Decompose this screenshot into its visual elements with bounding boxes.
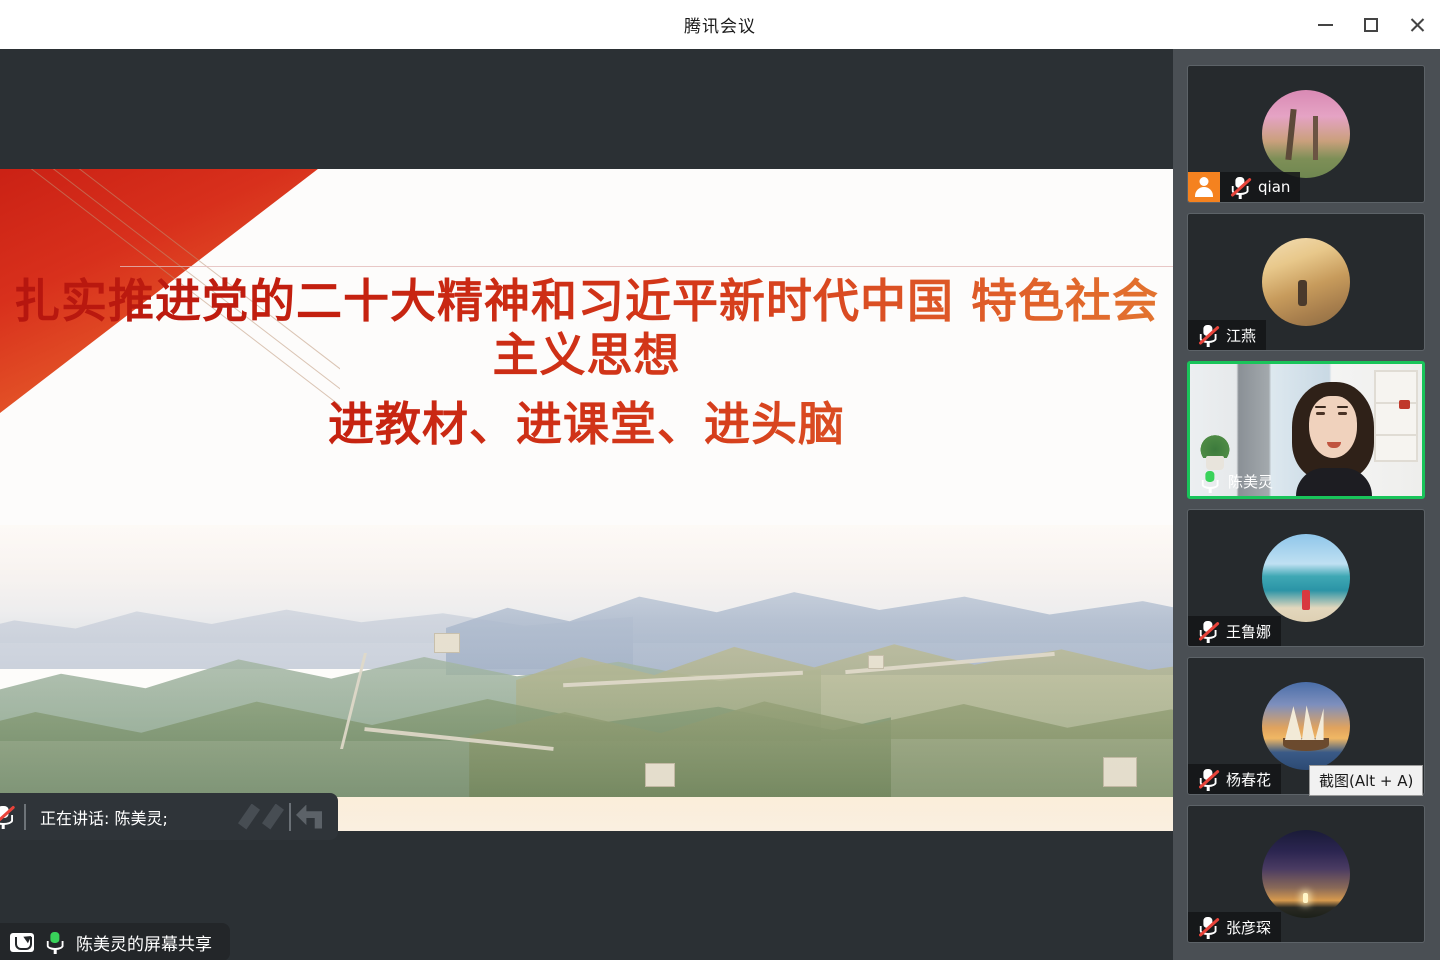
maximize-icon	[1364, 18, 1378, 32]
title-bar: 腾讯会议	[0, 0, 1440, 49]
galaxy-night-avatar	[1262, 830, 1350, 918]
participant-name: 杨春花	[1226, 769, 1271, 790]
divider	[24, 804, 26, 830]
screen-share-icon	[10, 933, 34, 952]
plant	[1198, 430, 1232, 458]
participant-tile-wangluna[interactable]: 王鲁娜	[1187, 509, 1425, 647]
decorative-divider	[120, 266, 1173, 267]
slide-title-line3: 进教材、进课堂、进头脑	[0, 397, 1173, 451]
microphone-muted-icon	[0, 804, 16, 830]
microphone-muted-icon	[1229, 175, 1251, 199]
window-controls	[1302, 0, 1440, 49]
sailing-ship-avatar	[1262, 682, 1350, 770]
screen-share-status-text: 陈美灵的屏幕共享	[76, 930, 212, 955]
microphone-muted-icon	[1197, 323, 1219, 347]
person	[1292, 382, 1374, 499]
participant-name: qian	[1258, 178, 1290, 196]
slide-navigation-controls[interactable]	[238, 803, 338, 831]
atmospheric-haze	[0, 525, 1173, 797]
participant-namebar: 江燕	[1188, 320, 1266, 350]
participant-namebar: 王鲁娜	[1188, 616, 1281, 646]
divider	[289, 803, 291, 831]
microphone-muted-icon	[1197, 915, 1219, 939]
participant-namebar: 杨春花	[1188, 764, 1281, 794]
participant-name: 陈美灵	[1228, 471, 1273, 492]
presentation-slide: 扎实推进党的二十大精神和习近平新时代中国 特色社会主义思想 进教材、进课堂、进头…	[0, 169, 1173, 831]
participant-tile-jiangyan[interactable]: 江燕	[1187, 213, 1425, 351]
shared-screen-stage: 扎实推进党的二十大精神和习近平新时代中国 特色社会主义思想 进教材、进课堂、进头…	[0, 49, 1173, 960]
walking-path-avatar	[1262, 238, 1350, 326]
microphone-active-icon	[44, 930, 66, 954]
microphone-active-icon	[1199, 469, 1221, 493]
beach-avatar	[1262, 534, 1350, 622]
sakura-tree-avatar	[1262, 90, 1350, 178]
screenshot-tooltip: 截图(Alt + A)	[1309, 765, 1423, 796]
bookshelf	[1374, 370, 1418, 462]
minimize-button[interactable]	[1302, 0, 1348, 49]
decor-object	[1399, 400, 1410, 409]
participant-namebar: 张彦琛	[1188, 912, 1281, 942]
participant-namebar: qian	[1188, 172, 1300, 202]
screen-share-status-pill: 陈美灵的屏幕共享	[0, 923, 230, 960]
host-badge-icon	[1188, 172, 1220, 202]
participant-name: 江燕	[1226, 325, 1256, 346]
speaking-indicator-bar: 正在讲话: 陈美灵;	[0, 793, 338, 840]
prev-slide-icon[interactable]	[238, 804, 260, 830]
speaking-status-text: 正在讲话: 陈美灵;	[40, 805, 168, 829]
close-icon	[1409, 16, 1426, 33]
maximize-button[interactable]	[1348, 0, 1394, 49]
participant-tile-chenmeiling[interactable]: 陈美灵	[1187, 361, 1425, 499]
great-wall-photo	[0, 525, 1173, 797]
microphone-muted-icon	[1197, 619, 1219, 643]
participant-name: 张彦琛	[1226, 917, 1271, 938]
slide-title-line1: 扎实推进党的二十大精神和习近平新时代中国	[14, 274, 954, 328]
slide-title: 扎实推进党的二十大精神和习近平新时代中国 特色社会主义思想 进教材、进课堂、进头…	[0, 274, 1173, 451]
participant-namebar: 陈美灵	[1190, 466, 1283, 496]
participant-name: 王鲁娜	[1226, 621, 1271, 642]
participant-tile-qian[interactable]: qian	[1187, 65, 1425, 203]
return-icon[interactable]	[296, 805, 322, 829]
window-title: 腾讯会议	[684, 12, 756, 37]
microphone-muted-icon	[1197, 767, 1219, 791]
participant-sidebar: qian 江燕 陈美灵	[1173, 49, 1440, 960]
participant-tile-zhangyanchen[interactable]: 张彦琛	[1187, 805, 1425, 943]
close-button[interactable]	[1394, 0, 1440, 49]
minimize-icon	[1318, 24, 1333, 26]
next-slide-icon[interactable]	[262, 804, 284, 830]
